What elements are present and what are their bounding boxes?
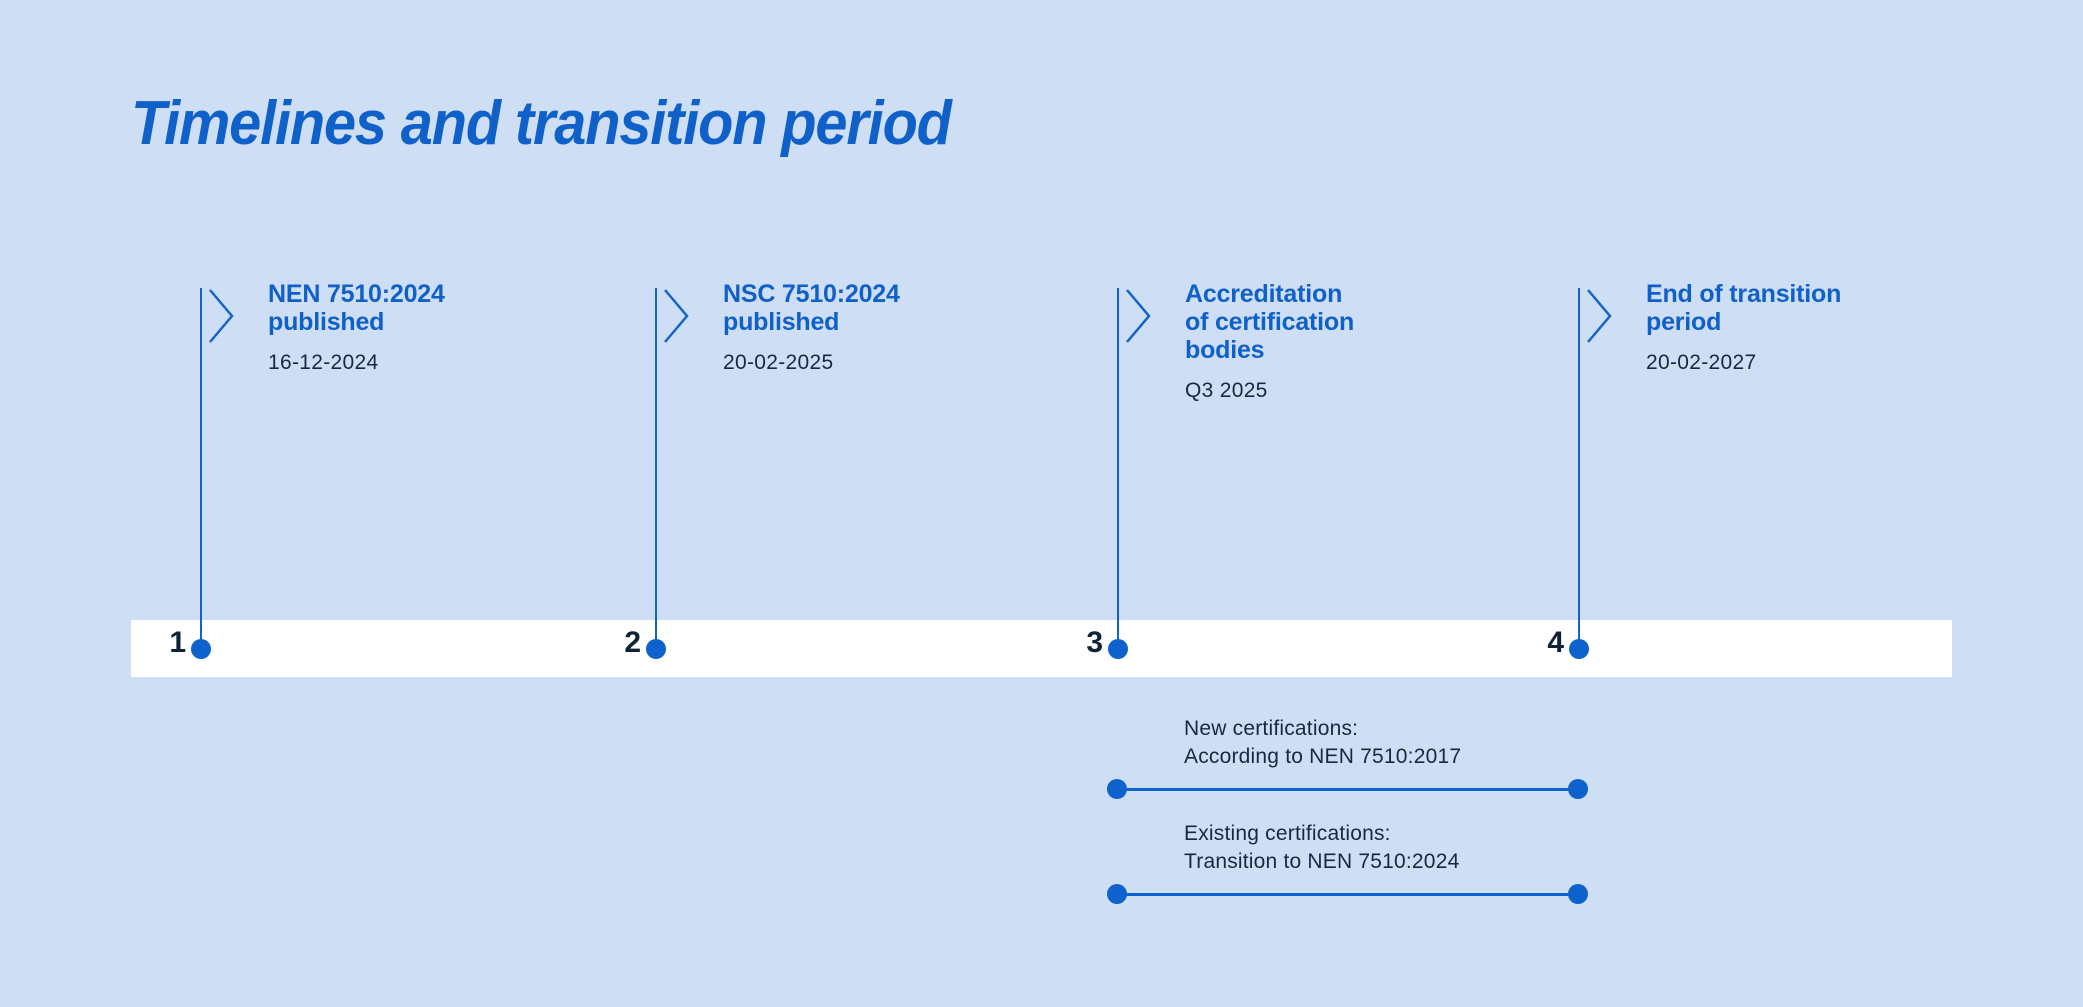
span-endpoint-start [1107, 779, 1127, 799]
span-label: New certifications: According to NEN 751… [1184, 715, 1578, 771]
chevron-right-icon [208, 288, 234, 344]
chevron-right-icon [1125, 288, 1151, 344]
milestone-text: Accreditation of certification bodies Q3… [1185, 280, 1485, 403]
milestone-number: 3 [1071, 628, 1103, 658]
milestone-date: 20-02-2027 [1646, 351, 1946, 375]
milestone-heading: NSC 7510:2024 published [723, 280, 1023, 336]
milestone-date: 16-12-2024 [268, 351, 568, 375]
milestone-dot[interactable] [646, 639, 666, 659]
milestone-stem [655, 288, 657, 650]
milestone-stem [1117, 288, 1119, 650]
milestone-number: 2 [609, 628, 641, 658]
span-bar [1117, 779, 1578, 799]
span-line [1117, 893, 1578, 896]
span-line [1117, 788, 1578, 791]
milestone-number: 1 [154, 628, 186, 658]
span-endpoint-end [1568, 779, 1588, 799]
milestone-stem [200, 288, 202, 650]
milestone-dot[interactable] [191, 639, 211, 659]
milestone-dot[interactable] [1108, 639, 1128, 659]
milestone-text: End of transition period 20-02-2027 [1646, 280, 1946, 375]
milestone-stem [1578, 288, 1580, 650]
span-endpoint-end [1568, 884, 1588, 904]
milestone-text: NSC 7510:2024 published 20-02-2025 [723, 280, 1023, 375]
milestone-heading: Accreditation of certification bodies [1185, 280, 1485, 364]
milestone-heading: NEN 7510:2024 published [268, 280, 568, 336]
milestone-dot[interactable] [1569, 639, 1589, 659]
chevron-right-icon [1586, 288, 1612, 344]
milestone-number: 4 [1532, 628, 1564, 658]
chevron-right-icon [663, 288, 689, 344]
milestone-date: Q3 2025 [1185, 379, 1485, 403]
span-endpoint-start [1107, 884, 1127, 904]
span-new-certifications: New certifications: According to NEN 751… [1117, 715, 1578, 799]
timeline-band [131, 620, 1952, 677]
span-bar [1117, 884, 1578, 904]
milestone-date: 20-02-2025 [723, 351, 1023, 375]
page-title: Timelines and transition period [131, 88, 951, 159]
span-label: Existing certifications: Transition to N… [1184, 820, 1578, 876]
milestone-text: NEN 7510:2024 published 16-12-2024 [268, 280, 568, 375]
milestone-heading: End of transition period [1646, 280, 1946, 336]
span-existing-certifications: Existing certifications: Transition to N… [1117, 820, 1578, 904]
